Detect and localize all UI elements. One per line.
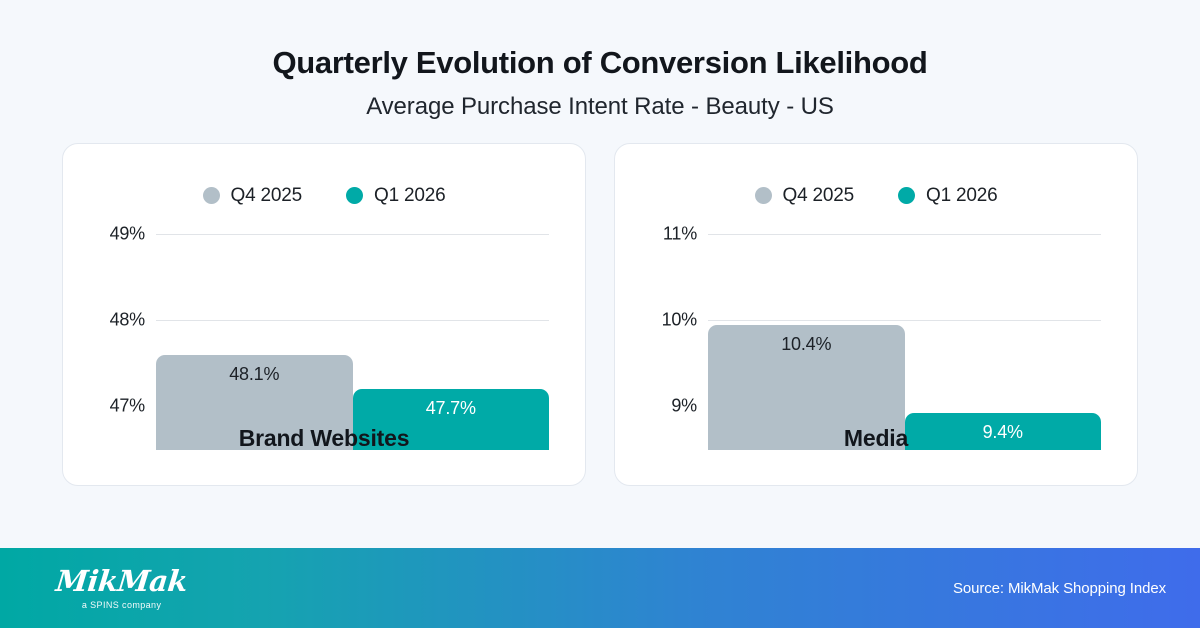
y-axis-tick-label: 10% (662, 309, 697, 330)
legend-item-q1-2026[interactable]: Q1 2026 (346, 185, 446, 207)
chart-category-title: Brand Websites (63, 425, 585, 452)
mikmak-logo: MikMak a SPINS company (56, 567, 187, 610)
gridline-top: 49% (156, 234, 549, 235)
y-axis-tick-label: 48% (110, 309, 145, 330)
logo-tagline: a SPINS company (82, 601, 162, 610)
bar-value-label: 47.7% (426, 398, 476, 419)
plot-area: 49% 48% 47% 48.1% 47.7% (63, 220, 585, 450)
legend-label: Q4 2025 (231, 185, 303, 207)
plot-area: 11% 10% 9% 10.4% 9.4% (615, 220, 1137, 450)
legend-dot-icon (755, 187, 772, 204)
y-axis-tick-label: 11% (663, 223, 697, 244)
legend-label: Q4 2025 (783, 185, 855, 207)
legend-item-q4-2025[interactable]: Q4 2025 (755, 185, 855, 207)
bars-group: 10.4% 9.4% (708, 264, 1101, 450)
bar-value-label: 48.1% (229, 364, 279, 385)
chart-panel-brand-websites: Q4 2025 Q1 2026 49% 48% 47% 48.1% (62, 143, 586, 486)
gridline-top: 11% (708, 234, 1101, 235)
legend-item-q1-2026[interactable]: Q1 2026 (898, 185, 998, 207)
chart-category-title: Media (615, 425, 1137, 452)
charts-container: Q4 2025 Q1 2026 49% 48% 47% 48.1% (0, 121, 1200, 486)
bar-value-label: 10.4% (781, 334, 831, 355)
chart-legend: Q4 2025 Q1 2026 (63, 144, 585, 207)
source-attribution: Source: MikMak Shopping Index (953, 580, 1166, 597)
legend-item-q4-2025[interactable]: Q4 2025 (203, 185, 303, 207)
logo-wordmark: MikMak (54, 567, 188, 596)
chart-header: Quarterly Evolution of Conversion Likeli… (0, 0, 1200, 121)
legend-label: Q1 2026 (374, 185, 446, 207)
page-subtitle: Average Purchase Intent Rate - Beauty - … (0, 93, 1200, 121)
footer-bar: MikMak a SPINS company Source: MikMak Sh… (0, 548, 1200, 628)
bars-group: 48.1% 47.7% (156, 264, 549, 450)
legend-dot-icon (346, 187, 363, 204)
legend-label: Q1 2026 (926, 185, 998, 207)
chart-panel-media: Q4 2025 Q1 2026 11% 10% 9% 10.4% (614, 143, 1138, 486)
legend-dot-icon (898, 187, 915, 204)
legend-dot-icon (203, 187, 220, 204)
chart-legend: Q4 2025 Q1 2026 (615, 144, 1137, 207)
page-title: Quarterly Evolution of Conversion Likeli… (0, 44, 1200, 83)
y-axis-tick-label: 49% (110, 223, 145, 244)
y-axis-tick-label: 9% (671, 395, 697, 416)
y-axis-tick-label: 47% (110, 395, 145, 416)
